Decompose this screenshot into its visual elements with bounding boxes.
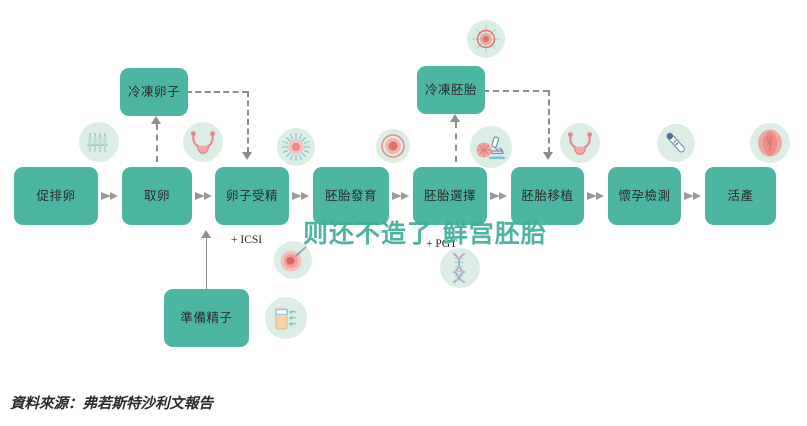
dash-down-to-fertilization xyxy=(247,91,249,153)
sperm-line-arrowhead xyxy=(201,230,211,238)
embryo-cell-icon xyxy=(376,129,410,163)
flow-arrow-2-3 xyxy=(192,191,216,201)
watermark-text: 则还不造了 鲜宫胚胎 xyxy=(303,214,547,250)
sperm-to-fertilization-line xyxy=(206,238,207,293)
annotation-icsi: + ICSI xyxy=(231,234,262,246)
flow-arrow-6-7 xyxy=(584,191,608,201)
microscope-icon xyxy=(470,126,512,168)
fertilization-icon xyxy=(277,128,315,166)
process-step-freeze-eggs[interactable]: 冷凍卵子 xyxy=(120,68,188,116)
uterus-icon xyxy=(560,123,600,163)
dash-arrowhead-freeze-eggs xyxy=(151,116,161,124)
ivf-process-diagram: 促排卵 取卵 卵子受精 胚胎發育 胚胎選擇 胚胎移植 懷孕檢測 活產 冷凍卵子 … xyxy=(0,0,807,426)
dash-up-to-freeze-embryos xyxy=(455,122,457,162)
process-step-egg-retrieval[interactable]: 取卵 xyxy=(122,167,192,225)
process-step-egg-fertilization[interactable]: 卵子受精 xyxy=(215,167,289,225)
flow-arrow-1-2 xyxy=(98,191,122,201)
dna-helix-icon xyxy=(440,248,480,288)
pregnancy-test-icon xyxy=(657,124,695,162)
dash-arrowhead-freeze-embryos xyxy=(450,114,460,122)
flow-arrow-7-8 xyxy=(681,191,705,201)
baby-icon xyxy=(750,123,790,163)
process-step-prepare-sperm[interactable]: 準備精子 xyxy=(164,289,249,347)
flow-arrow-4-5 xyxy=(389,191,413,201)
dash-freeze-embryos-to-right xyxy=(483,90,549,92)
dash-arrowhead-transfer xyxy=(543,152,553,160)
source-note: 資料來源：弗若斯特沙利文報告 xyxy=(10,392,213,413)
frozen-embryo-icon xyxy=(467,20,505,58)
process-step-freeze-embryos[interactable]: 冷凍胚胎 xyxy=(417,66,485,114)
dash-arrowhead-fertilization xyxy=(242,152,252,160)
flow-arrow-5-6 xyxy=(487,191,511,201)
dash-freeze-eggs-to-right xyxy=(186,91,248,93)
process-step-pregnancy-test[interactable]: 懷孕檢測 xyxy=(608,167,681,225)
process-step-live-birth[interactable]: 活產 xyxy=(705,167,776,225)
dash-down-to-transfer xyxy=(548,90,550,153)
dash-up-to-freeze-eggs xyxy=(156,124,158,162)
process-step-promote-ovulation[interactable]: 促排卵 xyxy=(14,167,98,225)
flow-arrow-3-4 xyxy=(289,191,313,201)
uterus-icon xyxy=(183,122,223,162)
sperm-sample-icon xyxy=(265,297,307,339)
syringes-icon xyxy=(79,122,119,162)
